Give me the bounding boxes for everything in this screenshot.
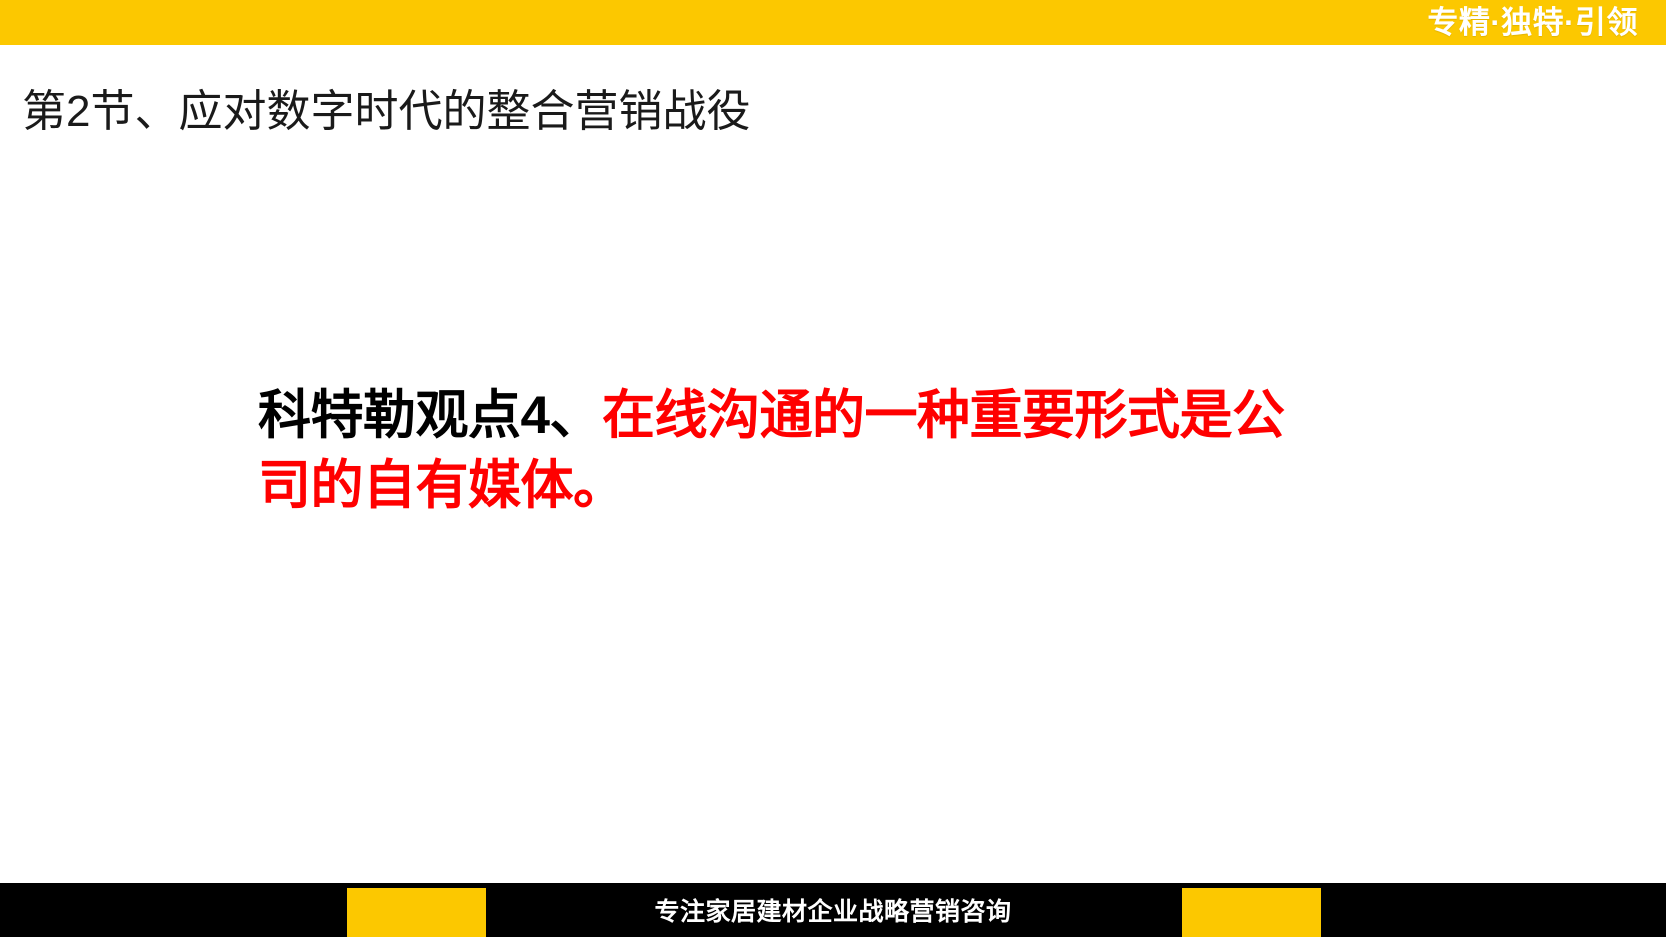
top-banner-slogan: 专精·独特·引领 xyxy=(1427,7,1638,38)
slide-title: 第2节、应对数字时代的整合营销战役 xyxy=(22,88,750,136)
footer-bar: 专注家居建材企业战略营销咨询 xyxy=(0,883,1666,937)
top-banner: 专精·独特·引领 xyxy=(0,0,1666,45)
footer-tagline: 专注家居建材企业战略营销咨询 xyxy=(0,883,1666,937)
slide-body-text: 科特勒观点4、在线沟通的一种重要形式是公司的自有媒体。 xyxy=(258,381,1318,522)
body-text-black-segment: 科特勒观点4、 xyxy=(258,386,602,445)
